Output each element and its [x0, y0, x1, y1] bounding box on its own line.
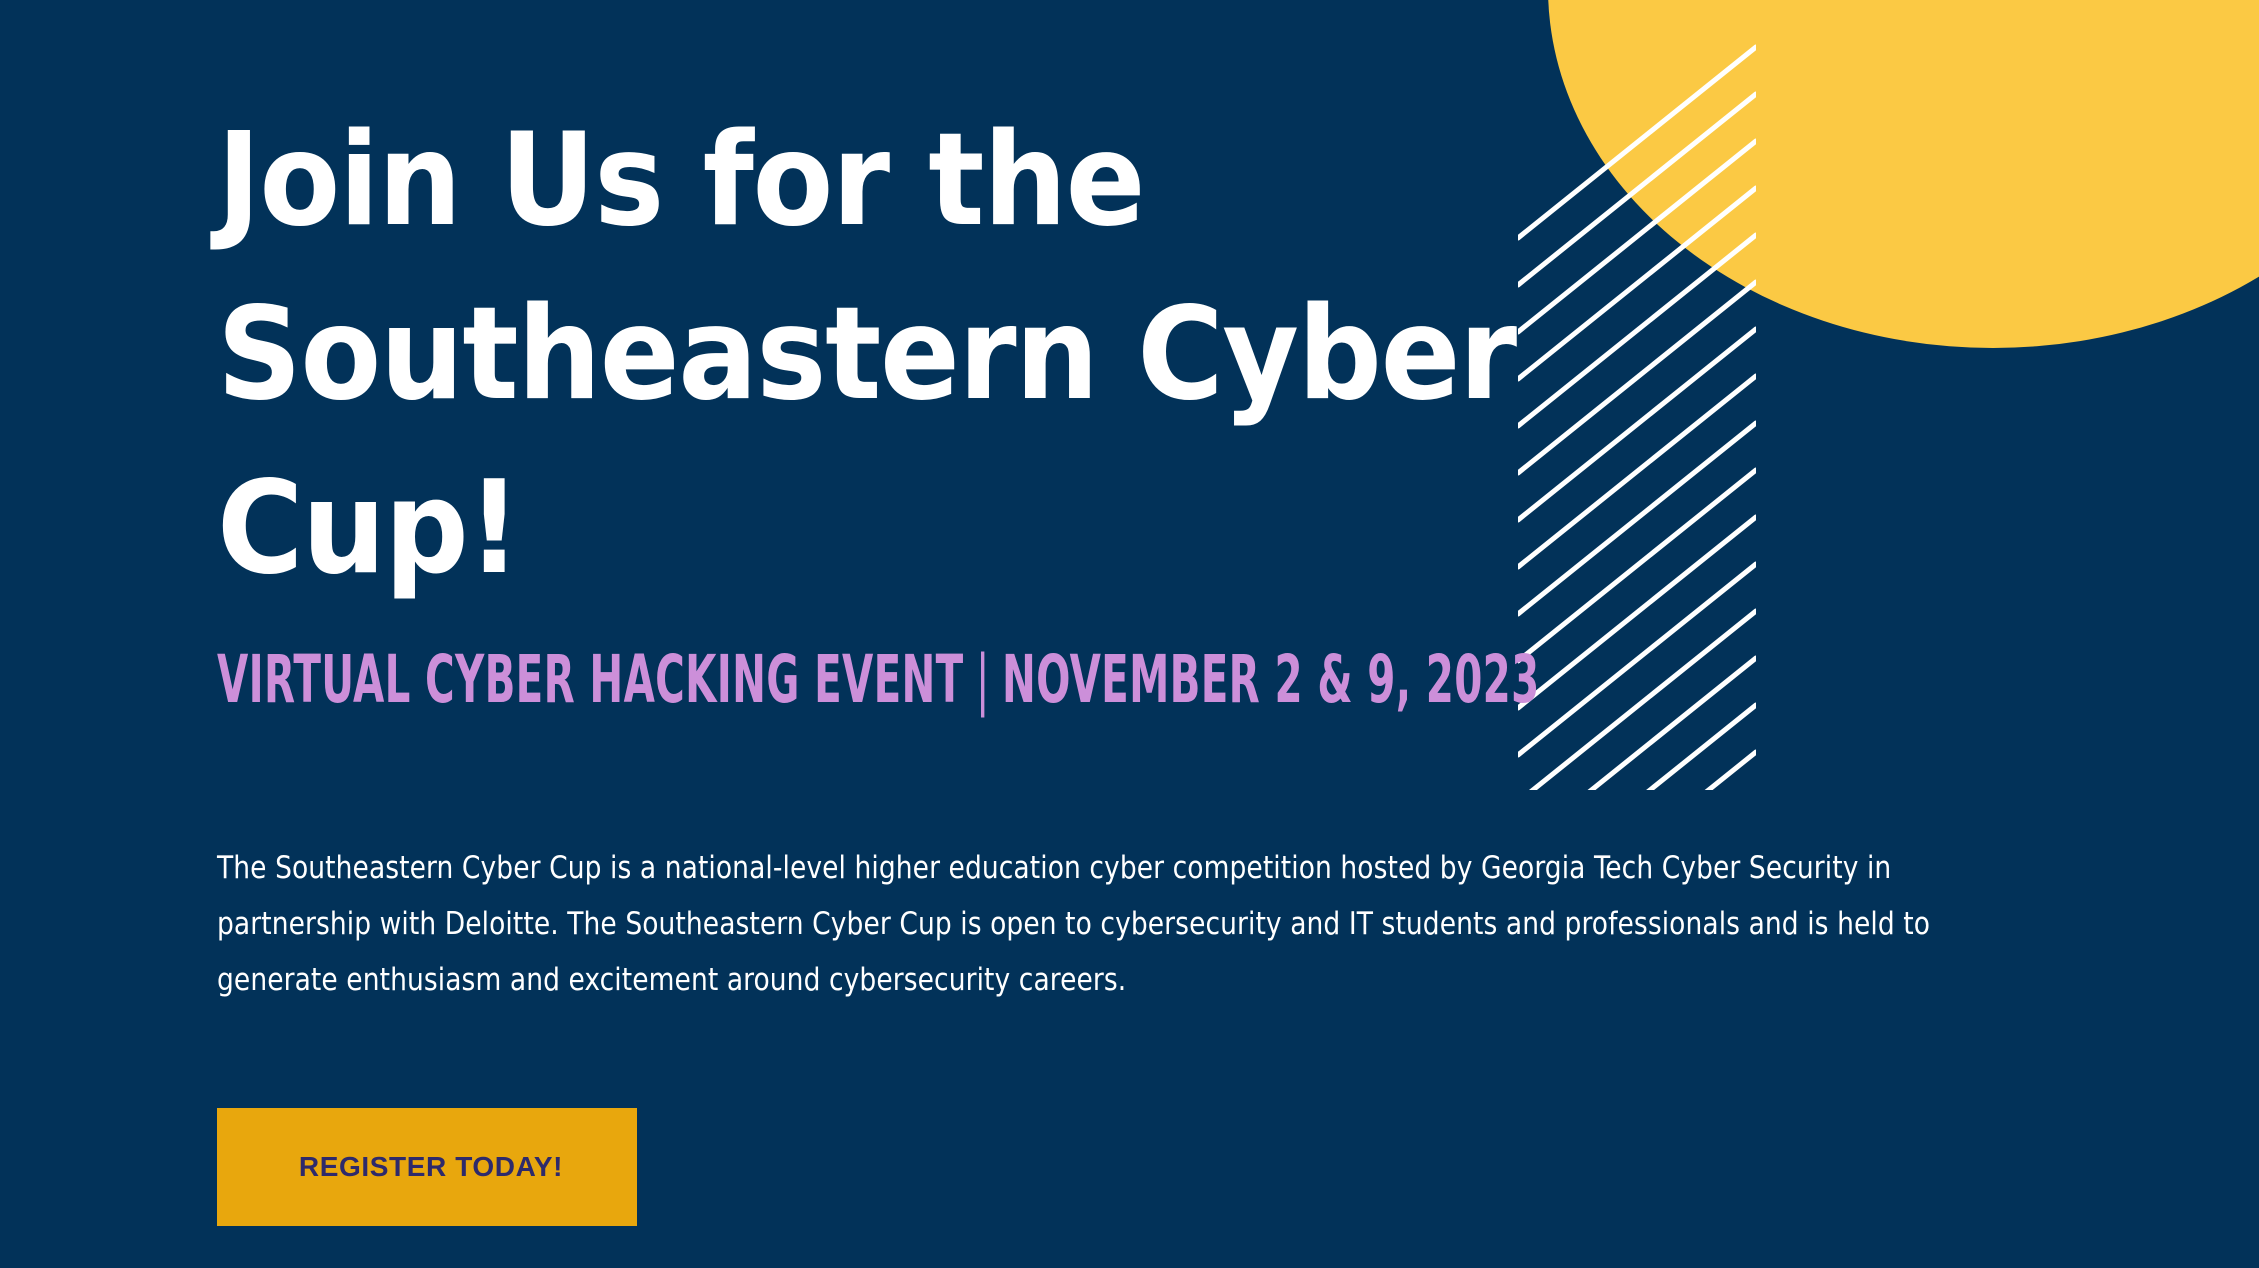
event-description: The Southeastern Cyber Cup is a national… [217, 840, 1998, 1008]
event-dates-label: NOVEMBER 2 & 9, 2023 [1002, 641, 1539, 718]
register-today-button[interactable]: REGISTER TODAY! [217, 1108, 637, 1226]
promo-banner: Join Us for the Southeastern Cyber Cup! … [0, 0, 2259, 1268]
page-title: Join Us for the Southeastern Cyber Cup! [217, 94, 1523, 616]
banner-content: Join Us for the Southeastern Cyber Cup! … [217, 0, 2067, 1268]
event-subtitle: VIRTUAL CYBER HACKING EVENT|NOVEMBER 2 &… [217, 644, 1540, 716]
event-type-label: VIRTUAL CYBER HACKING EVENT [217, 641, 964, 718]
subtitle-separator: | [964, 641, 1002, 718]
